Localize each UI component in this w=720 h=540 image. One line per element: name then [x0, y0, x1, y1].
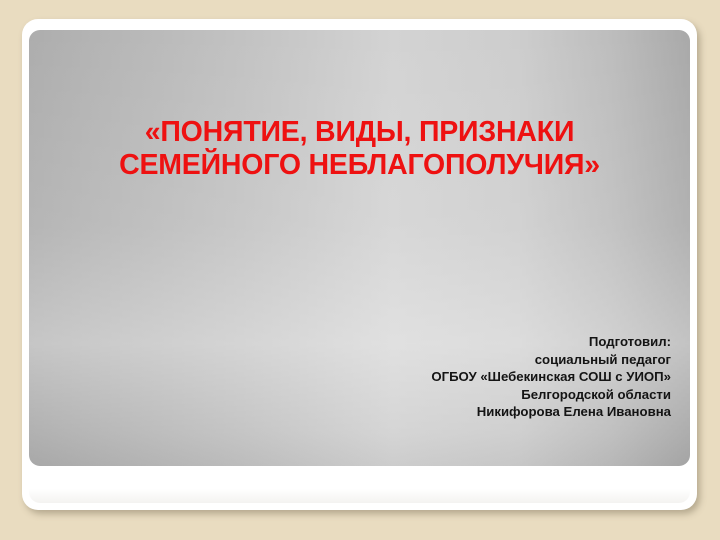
slide-title: «ПОНЯТИЕ, ВИДЫ, ПРИЗНАКИ СЕМЕЙНОГО НЕБЛА…: [29, 116, 690, 182]
slide-title-line-2: СЕМЕЙНОГО НЕБЛАГОПОЛУЧИЯ»: [43, 149, 676, 182]
author-line-name: Никифорова Елена Ивановна: [431, 403, 671, 421]
slide-author-block: Подготовил: социальный педагог ОГБОУ «Ше…: [431, 333, 671, 421]
slide-canvas: «ПОНЯТИЕ, ВИДЫ, ПРИЗНАКИ СЕМЕЙНОГО НЕБЛА…: [0, 0, 720, 540]
author-line-prepared-by: Подготовил:: [431, 333, 671, 351]
slide-footer-band: [29, 466, 690, 503]
author-line-school: ОГБОУ «Шебекинская СОШ с УИОП»: [431, 368, 671, 386]
slide-card: «ПОНЯТИЕ, ВИДЫ, ПРИЗНАКИ СЕМЕЙНОГО НЕБЛА…: [22, 19, 697, 510]
author-line-region: Белгородской области: [431, 386, 671, 404]
slide-title-line-1: «ПОНЯТИЕ, ВИДЫ, ПРИЗНАКИ: [43, 116, 676, 149]
slide-content-panel: «ПОНЯТИЕ, ВИДЫ, ПРИЗНАКИ СЕМЕЙНОГО НЕБЛА…: [29, 30, 690, 466]
author-line-role: социальный педагог: [431, 351, 671, 369]
